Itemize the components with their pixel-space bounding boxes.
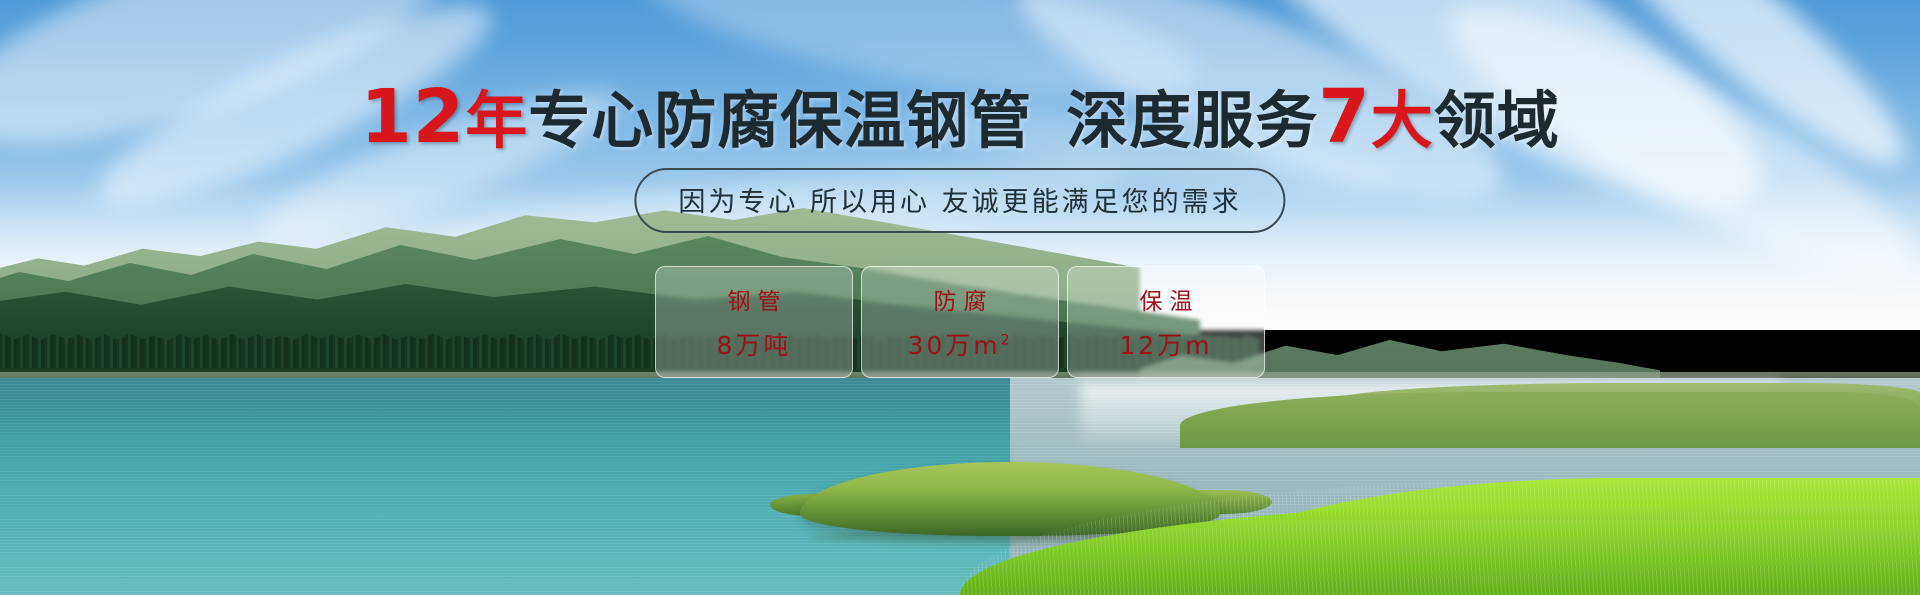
- stat-card-value-text: 30万m: [907, 331, 1000, 360]
- subtitle-pill: 因为专心 所以用心 友诚更能满足您的需求: [634, 168, 1285, 233]
- headline-middle-text: 专心防腐保温钢管: [528, 90, 1032, 152]
- stat-card-value: 12万m: [1119, 326, 1212, 362]
- stat-card-value: 8万吨: [717, 326, 792, 362]
- stat-card-title: 防腐: [927, 282, 994, 316]
- headline-fields-tail: 领域: [1434, 90, 1560, 152]
- stat-card-title: 钢管: [721, 282, 788, 316]
- stat-card-group: 钢管 8万吨 防腐 30万m2 保温 12万m: [655, 266, 1265, 378]
- stat-card-value-text: 8万吨: [717, 331, 792, 360]
- stat-card-value-text: 12万m: [1119, 331, 1212, 360]
- stat-card-value-superscript: 2: [1001, 333, 1013, 349]
- stat-card-steel-pipe[interactable]: 钢管 8万吨: [655, 266, 853, 378]
- stat-card-anticorrosion[interactable]: 防腐 30万m2: [861, 266, 1059, 378]
- stat-card-title: 保温: [1133, 282, 1200, 316]
- headline-fields-unit: 大: [1371, 90, 1434, 152]
- headline-service-text: 深度服务: [1066, 90, 1318, 152]
- headline-years-unit: 年: [465, 90, 528, 152]
- stat-card-insulation[interactable]: 保温 12万m: [1067, 266, 1265, 378]
- headline-years-number: 12: [360, 80, 465, 154]
- stat-card-value: 30万m2: [907, 326, 1012, 362]
- promo-banner: 12年专心防腐保温钢管深度服务7大领域 因为专心 所以用心 友诚更能满足您的需求…: [0, 0, 1920, 595]
- marsh-band: [1180, 392, 1920, 448]
- headline: 12年专心防腐保温钢管深度服务7大领域: [0, 80, 1920, 154]
- headline-fields-number: 7: [1318, 80, 1371, 154]
